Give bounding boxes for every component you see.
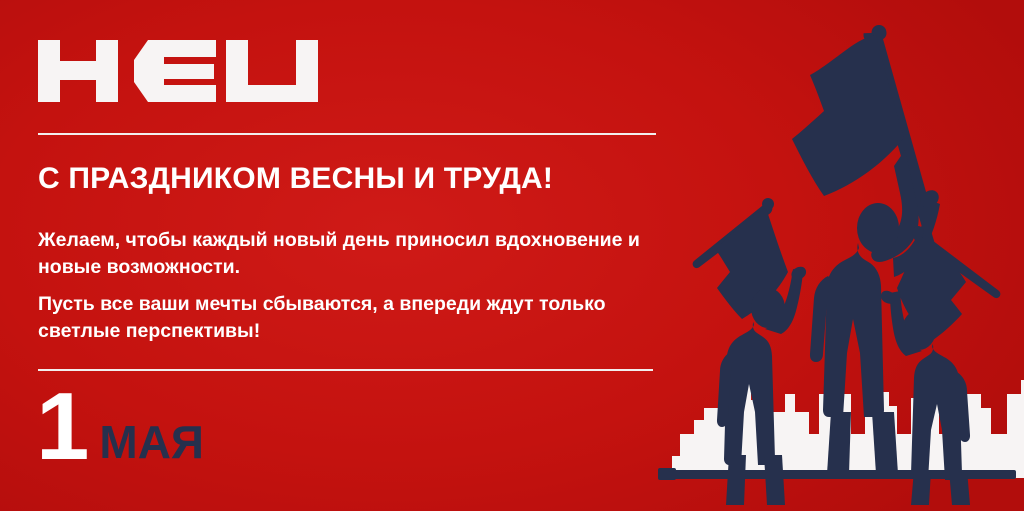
ground-bar-cap: [658, 468, 676, 480]
workers-illustration: [650, 0, 1024, 511]
date-day: 1: [36, 388, 87, 467]
workers-with-flags-icon: [650, 0, 1024, 511]
divider-top: [38, 133, 656, 135]
heli-logo-icon: [38, 40, 318, 102]
date-block: 1 МАЯ: [36, 388, 204, 467]
divider-bottom: [38, 369, 653, 371]
body-paragraph-2: Пусть все ваши мечты сбываются, а вперед…: [38, 291, 678, 345]
body-paragraph-1: Желаем, чтобы каждый новый день приносил…: [38, 227, 678, 281]
heli-logo: [38, 40, 318, 102]
greeting-poster: С ПРАЗДНИКОМ ВЕСНЫ И ТРУДА! Желаем, чтоб…: [0, 0, 1024, 511]
date-month: МАЯ: [99, 419, 204, 465]
page-title: С ПРАЗДНИКОМ ВЕСНЫ И ТРУДА!: [38, 162, 553, 196]
